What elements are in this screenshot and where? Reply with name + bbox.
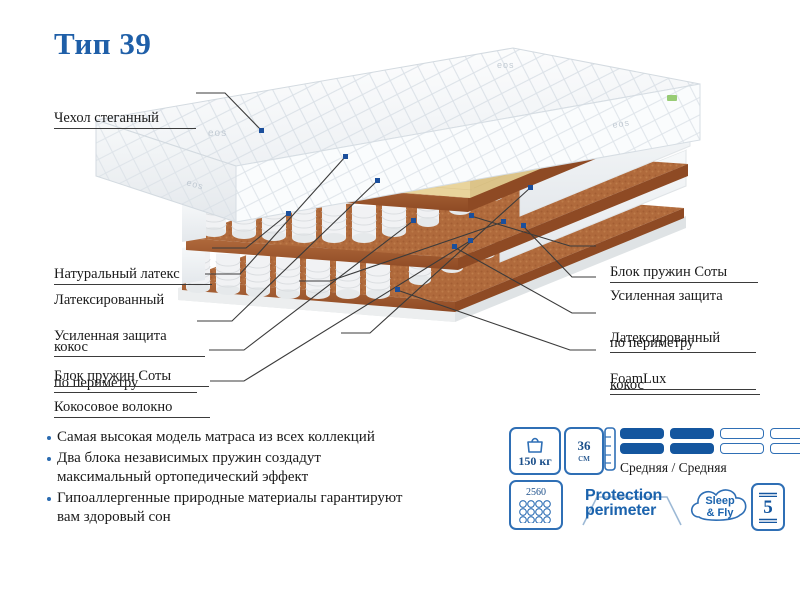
label-foamlux: FoamLux [610,341,756,421]
ruler-icon [604,427,616,471]
badge-brand-sleep-and-fly: Sleep & Fly [687,483,753,527]
svg-text:eos: eos [208,128,227,139]
height-value: 36 [578,439,591,452]
badge-warranty-years: 5 [751,483,785,531]
hardness-bar-b1 [620,443,664,454]
warranty-value: 5 [763,498,773,517]
warranty-top-rule [757,492,779,497]
hardness-bar-b3 [720,443,764,454]
badge-spring-count: 2560 [509,480,563,530]
list-item: Самая высокая модель матраса из всех кол… [46,428,501,448]
hardness-bar-b2 [670,443,714,454]
hardness-bar-a3 [720,428,764,439]
brand-line-1: Sleep [705,495,734,507]
hardness-bar-a1 [620,428,664,439]
list-item: Гипоаллергенные природные материалы гара… [46,489,501,528]
spring-count-value: 2560 [526,488,546,498]
hardness-bar-a4 [770,428,800,439]
max-load-value: 150 кг [518,455,551,467]
svg-text:eos: eos [497,60,515,70]
label-cover: Чехол стеганный [54,80,196,160]
warranty-bottom-rule [757,518,779,523]
height-unit: см [578,453,590,464]
badge-height: 36 см [564,427,604,475]
spring-grid-icon [518,499,554,523]
badge-max-load: 150 кг [509,427,561,475]
hardness-indicator: Средняя / Средняя [620,427,800,477]
list-item: Два блока независимых пружин создадут ма… [46,449,501,488]
product-spec-page: Тип 39 [0,0,800,592]
protection-line-2: perimeter [585,504,656,518]
spec-badges: 150 кг 36 см Средняя / Сре [505,425,800,535]
brand-line-2: & Fly [707,507,734,519]
hardness-bar-b4 [770,443,800,454]
weight-icon [525,436,545,453]
badge-protection-perimeter: Protection perimeter [567,483,685,527]
protection-line-1: Protection [585,489,662,503]
feature-list: Самая высокая модель матраса из всех кол… [46,428,501,529]
hardness-bar-a2 [670,428,714,439]
hardness-label: Средняя / Средняя [620,460,727,476]
